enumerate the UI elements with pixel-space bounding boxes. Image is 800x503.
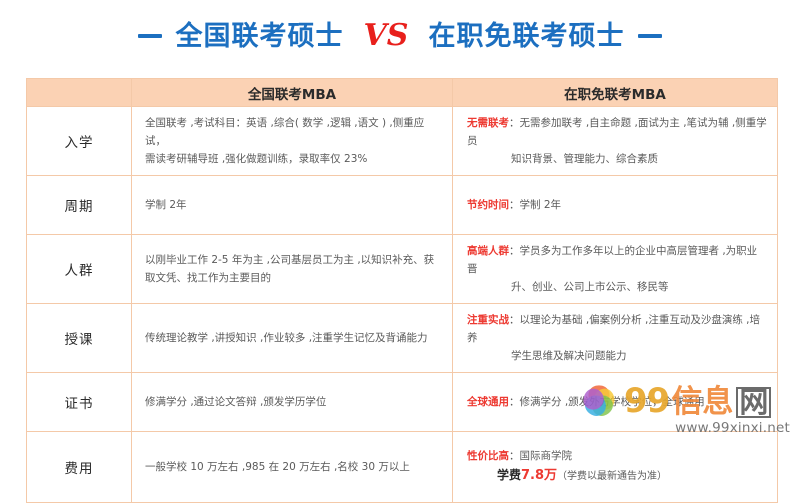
text-line: 修满学分 ,通过论文答辩 ,颁发学历学位 — [145, 396, 326, 408]
cell-examfree-period: 节约时间：学制 2年 — [453, 176, 778, 235]
cell-national-enrollment: 全国联考 ,考试科目：英语 ,综合( 数学 ,逻辑 ,语文 ) ,侧重应试， 需… — [132, 107, 453, 176]
text-line: 知识背景、管理能力、综合素质 — [467, 150, 767, 168]
text-line: 全国联考 ,考试科目：英语 ,综合( 数学 ,逻辑 ,语文 ) ,侧重应试， — [145, 117, 424, 147]
table-row: 周期 学制 2年 节约时间：学制 2年 — [27, 176, 778, 235]
comparison-table-wrapper: 全国联考MBA 在职免联考MBA 入学 全国联考 ,考试科目：英语 ,综合( 数… — [26, 78, 774, 503]
header-cell-exam-free-mba: 在职免联考MBA — [453, 79, 778, 107]
fee-detail-line: 学费7.8万（学费以最新通告为准） — [467, 465, 767, 487]
text-line: ：修满学分 ,颁发外方学校学位，全球通用 — [509, 396, 705, 408]
cell-examfree-teaching: 注重实战：以理论为基础 ,偏案例分析 ,注重互动及沙盘演练 ,培养 学生思维及解… — [453, 304, 778, 373]
page-title: 全国联考硕士 VS 在职免联考硕士 — [0, 0, 800, 72]
text-line: 学生思维及解决问题能力 — [467, 347, 767, 365]
text-line: ：以理论为基础 ,偏案例分析 ,注重互动及沙盘演练 ,培养 — [467, 314, 760, 344]
text-line: ：学制 2年 — [509, 199, 561, 211]
title-dash-right — [638, 34, 662, 38]
text-line: ：国际商学院 — [509, 450, 572, 462]
highlight-tag: 高端人群 — [467, 245, 509, 257]
highlight-tag: 注重实战 — [467, 314, 509, 326]
table-header: 全国联考MBA 在职免联考MBA — [27, 79, 778, 107]
cell-examfree-audience: 高端人群：学员多为工作多年以上的企业中高层管理者 ,为职业晋 升、创业、公司上市… — [453, 235, 778, 304]
table-row: 授课 传统理论教学 ,讲授知识 ,作业较多 ,注重学生记忆及背诵能力 注重实战：… — [27, 304, 778, 373]
header-cell-national-mba: 全国联考MBA — [132, 79, 453, 107]
highlight-tag: 性价比高 — [467, 450, 509, 462]
row-label-period: 周期 — [27, 176, 132, 235]
text-line: 取文凭、找工作为主要目的 — [145, 272, 271, 284]
cell-examfree-certificate: 全球通用：修满学分 ,颁发外方学校学位，全球通用 — [453, 373, 778, 432]
title-vs-text: VS — [358, 21, 415, 51]
text-line: 需读考研辅导班 ,强化做题训练，录取率仅 23% — [145, 153, 367, 165]
table-header-row: 全国联考MBA 在职免联考MBA — [27, 79, 778, 107]
table-row: 证书 修满学分 ,通过论文答辩 ,颁发学历学位 全球通用：修满学分 ,颁发外方学… — [27, 373, 778, 432]
title-dash-left — [138, 34, 162, 38]
text-line: ：无需参加联考 ,自主命题 ,面试为主 ,笔试为辅 ,侧重学员 — [467, 117, 767, 147]
text-line: 一般学校 10 万左右 ,985 在 20 万左右 ,名校 30 万以上 — [145, 461, 410, 473]
cell-national-period: 学制 2年 — [132, 176, 453, 235]
text-line: 升、创业、公司上市公示、移民等 — [467, 278, 767, 296]
cell-national-teaching: 传统理论教学 ,讲授知识 ,作业较多 ,注重学生记忆及背诵能力 — [132, 304, 453, 373]
row-label-enrollment: 入学 — [27, 107, 132, 176]
row-label-audience: 人群 — [27, 235, 132, 304]
comparison-table: 全国联考MBA 在职免联考MBA 入学 全国联考 ,考试科目：英语 ,综合( 数… — [26, 78, 778, 503]
table-row: 人群 以刚毕业工作 2-5 年为主 ,公司基层员工为主 ,以知识补充、获 取文凭… — [27, 235, 778, 304]
highlight-tag: 节约时间 — [467, 199, 509, 211]
highlight-tag: 全球通用 — [467, 396, 509, 408]
row-label-teaching: 授课 — [27, 304, 132, 373]
fee-note: （学费以最新通告为准） — [557, 471, 667, 482]
highlight-tag: 无需联考 — [467, 117, 509, 129]
cell-national-certificate: 修满学分 ,通过论文答辩 ,颁发学历学位 — [132, 373, 453, 432]
cell-examfree-enrollment: 无需联考：无需参加联考 ,自主命题 ,面试为主 ,笔试为辅 ,侧重学员 知识背景… — [453, 107, 778, 176]
cell-national-audience: 以刚毕业工作 2-5 年为主 ,公司基层员工为主 ,以知识补充、获 取文凭、找工… — [132, 235, 453, 304]
table-body: 入学 全国联考 ,考试科目：英语 ,综合( 数学 ,逻辑 ,语文 ) ,侧重应试… — [27, 107, 778, 503]
fee-label: 学费 — [497, 468, 521, 482]
header-cell-label — [27, 79, 132, 107]
title-text-right: 在职免联考硕士 — [428, 23, 624, 50]
text-line: 学制 2年 — [145, 199, 187, 211]
text-line: 传统理论教学 ,讲授知识 ,作业较多 ,注重学生记忆及背诵能力 — [145, 332, 428, 344]
text-line: 以刚毕业工作 2-5 年为主 ,公司基层员工为主 ,以知识补充、获 — [145, 254, 434, 266]
text-line: ：学员多为工作多年以上的企业中高层管理者 ,为职业晋 — [467, 245, 757, 275]
fee-amount: 7.8万 — [521, 468, 557, 483]
title-text-left: 全国联考硕士 — [176, 23, 344, 50]
table-row: 入学 全国联考 ,考试科目：英语 ,综合( 数学 ,逻辑 ,语文 ) ,侧重应试… — [27, 107, 778, 176]
row-label-certificate: 证书 — [27, 373, 132, 432]
